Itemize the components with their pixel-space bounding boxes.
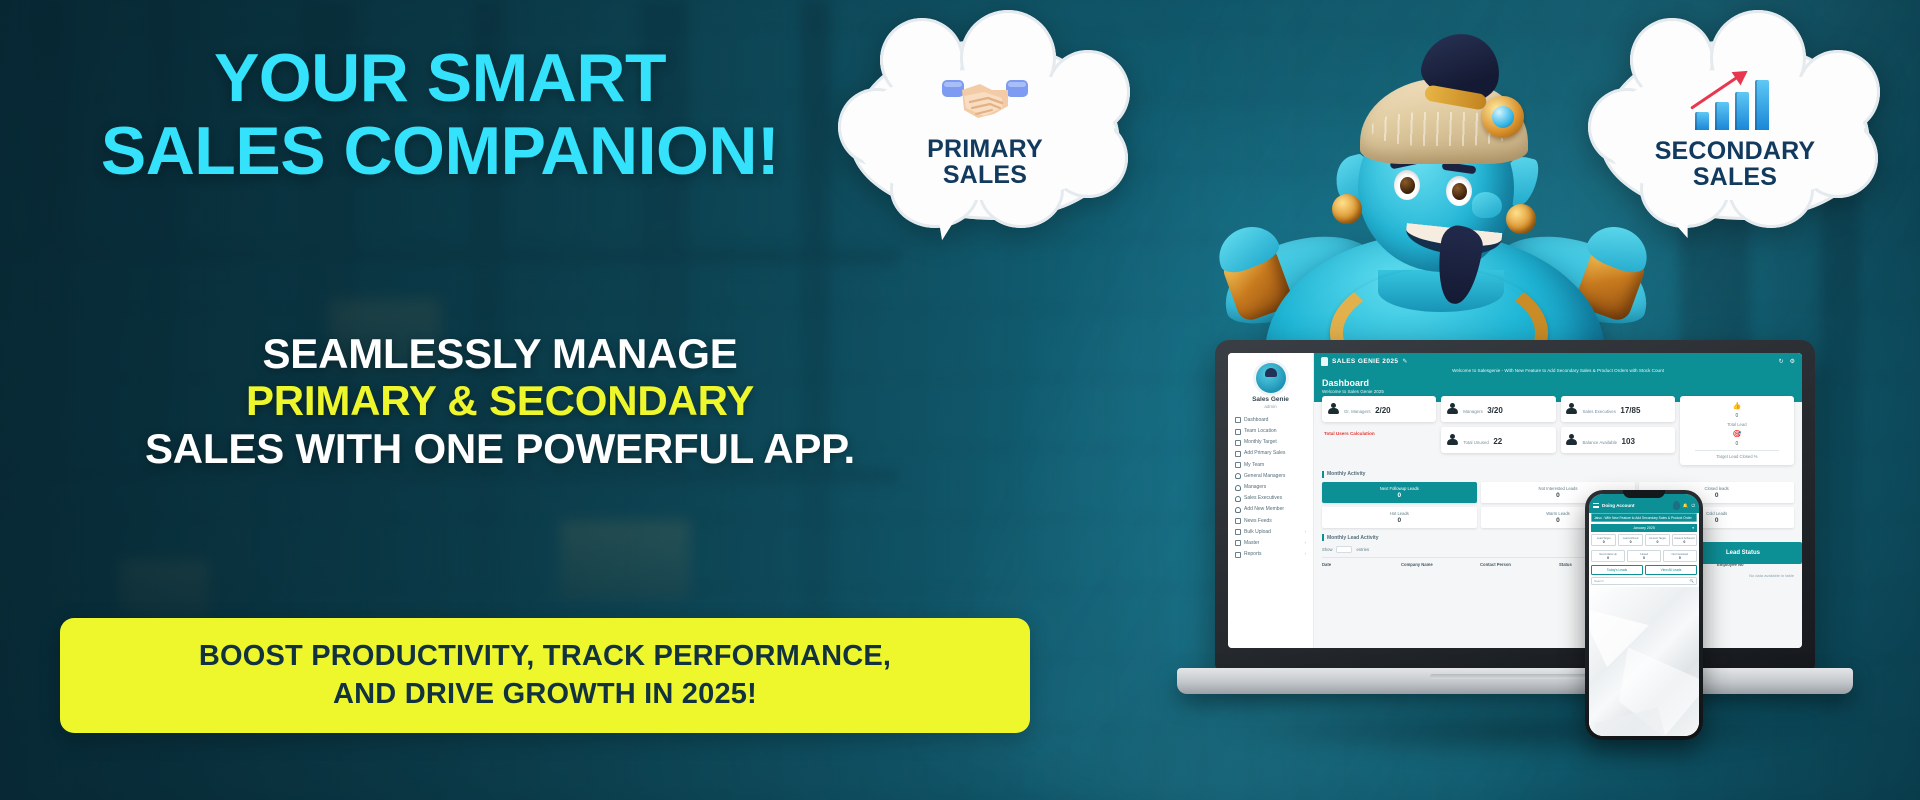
genie-avatar-icon[interactable] [1673,501,1680,510]
genie-right-eye [1446,176,1472,206]
kpi-column: Managers 3/20 Total Unused 22 [1441,396,1555,465]
phone-stat-tile: Lead Target 0 [1591,534,1616,546]
kpi-label: Sales Executives [1583,409,1616,414]
cta-banner[interactable]: BOOST PRODUCTIVITY, TRACK PERFORMANCE, A… [60,618,1030,733]
phone-stat-value: 0 [1646,540,1669,544]
phone-tiles-row-1: Lead Target 0 Lead Achived 0 Amount Targ… [1589,532,1699,548]
genie-turban-jewel [1482,96,1524,138]
phone-stat-value: 0 [1673,540,1696,544]
entries-label: entries [1356,547,1369,552]
dashboard-page-title: Dashboard [1322,378,1794,388]
phone-stat-tile: Lead Achived 0 [1618,534,1643,546]
kpi-column: Sales Executives 17/85 Balance Available [1561,396,1675,465]
section-header-monthly-activity: Monthly Activity [1322,471,1794,478]
person-icon [1446,403,1458,415]
person-icon [1327,403,1339,415]
genie-left-earring [1332,194,1362,224]
activity-value: 0 [1324,517,1475,524]
sidebar-item-label: Add New Member [1244,507,1284,512]
bar-chart-growth-icon [1689,70,1781,130]
cta-text: BOOST PRODUCTIVITY, TRACK PERFORMANCE, A… [199,638,891,712]
activity-value: 0 [1324,492,1475,499]
view-all-leads-button[interactable]: View All Leads [1645,565,1697,575]
chevron-right-icon: › [1305,552,1307,557]
subheading-line-1: SEAMLESSLY MANAGE [0,330,1000,377]
kpi-value: 22 [1493,437,1502,446]
phone-background-illustration [1589,587,1699,736]
phone-search-field[interactable]: Search 🔍 [1591,577,1697,585]
file-icon [1235,552,1241,558]
sidebar-item-label: My Team [1244,463,1264,468]
sidebar-item-monthly-target[interactable]: Monthly Target [1233,437,1308,448]
bubble-label: SECONDARY SALES [1655,138,1816,191]
hero-subheading: SEAMLESSLY MANAGE PRIMARY & SECONDARY SA… [0,330,1000,472]
power-icon[interactable]: ⏻ [1691,503,1695,508]
total-lead-card: 👍 0 Total Lead 🎯 0 Target Lead Closed % [1680,396,1794,465]
subheading-highlight: PRIMARY & SECONDARY [0,377,1000,424]
activity-label: Next Followup Leads [1324,486,1475,491]
sidebar-item-team-location[interactable]: Team Location [1233,426,1308,437]
kpi-grid: Gr. Managers 2/20 Total Users Calculatio… [1322,396,1794,465]
file-icon [1235,540,1241,546]
table-empty-message: No data available in table [1322,573,1794,578]
chevron-right-icon: › [1305,541,1307,546]
gear-icon[interactable]: ⚙ [1790,358,1795,365]
section-title: Monthly Lead Activity [1327,535,1379,541]
sidebar-item-bulk-upload[interactable]: Bulk Upload › [1233,527,1308,538]
sidebar-app-name: Sales Genie [1233,396,1308,404]
pencil-icon[interactable]: ✎ [1402,358,1407,365]
total-lead-label: Total Lead [1727,422,1746,427]
upload-icon [1235,529,1241,535]
activity-card-hot-leads[interactable]: Hot Leads 0 [1322,507,1477,528]
kpi-note: Total Users Calculation [1322,427,1436,441]
dashboard-page-subtitle: Welcome to Sales Genie 2025 [1322,389,1794,394]
bubble-label-line-1: SECONDARY [1655,138,1816,164]
device-floor-shadow [1210,700,1830,760]
hero-copy-column: YOUR SMART SALES COMPANION! SEAMLESSLY M… [0,0,1030,800]
section-header-monthly-lead-activity: Monthly Lead Activity [1322,534,1794,541]
laptop-screen: Sales Genie admin Dashboard Team Locatio… [1228,353,1802,648]
kpi-value: 3/20 [1487,406,1503,415]
target-lead-value: 0 [1735,441,1738,447]
dashboard-topbar: SALES GENIE 2025 ✎ ↻ ⚙ Welcome to Salesg… [1314,353,1802,376]
kpi-value: 2/20 [1375,406,1391,415]
hero-artwork: PRIMARY SALES [960,0,1920,800]
app-logo-icon [1321,357,1328,366]
kpi-card: Balance Available 103 [1561,427,1675,453]
laptop-mockup: Sales Genie admin Dashboard Team Locatio… [1215,340,1815,740]
phone-notch [1623,490,1665,498]
phone-stat-tile: Not Interested 0 [1663,550,1697,562]
kpi-label: Gr. Managers [1344,409,1371,414]
laptop-base [1177,668,1853,694]
sidebar-item-label: Team Location [1244,429,1277,434]
person-icon [1566,403,1578,415]
cta-line-2: AND DRIVE GROWTH IN 2025! [199,676,891,713]
phone-stat-value: 0 [1592,540,1615,544]
briefcase-icon [1235,462,1241,468]
sidebar-item-add-primary-sales[interactable]: Add Primary Sales [1233,448,1308,459]
sidebar-item-label: Reports [1244,552,1262,557]
topbar-title: SALES GENIE 2025 [1332,358,1398,365]
phone-stat-value: 0 [1592,556,1624,560]
sidebar-item-label: Managers [1244,485,1266,490]
person-icon [1446,434,1458,446]
kpi-card: Gr. Managers 2/20 [1322,396,1436,422]
kpi-value: 103 [1622,437,1635,446]
grid-icon [1235,417,1241,423]
refresh-icon[interactable]: ↻ [1779,358,1784,365]
kpi-card: Managers 3/20 [1441,396,1555,422]
dashboard-body: Gr. Managers 2/20 Total Users Calculatio… [1314,396,1802,648]
table-column-header: Date [1322,562,1399,567]
topbar-welcome-text: Welcome to Salesgenie - With New Feature… [1321,368,1795,374]
phone-stat-tile: Amount Target 0 [1645,534,1670,546]
activity-row-1: Next Followup Leads 0 Not Interested Lea… [1322,482,1794,503]
total-lead-value: 0 [1735,413,1738,419]
genie-left-eye [1394,170,1420,200]
cta-line-1: BOOST PRODUCTIVITY, TRACK PERFORMANCE, [199,638,891,675]
kpi-card: Sales Executives 17/85 [1561,396,1675,422]
section-title: Monthly Activity [1327,471,1365,477]
phone-stat-value: 0 [1619,540,1642,544]
table-column-header: Contact Person [1480,562,1557,567]
sidebar-item-label: Master [1244,541,1259,546]
thumbs-up-icon: 👍 [1733,402,1742,410]
phone-search-placeholder: Search [1594,579,1604,583]
kpi-column: Gr. Managers 2/20 Total Users Calculatio… [1322,396,1436,465]
phone-header-title: Doing Account [1602,503,1635,508]
magnifier-icon[interactable]: 🔍 [1690,579,1694,583]
phone-month-label: January 2025 [1633,526,1655,530]
sidebar-item-label: News Feeds [1244,519,1272,524]
phone-buttons: Today's Leads View All Leads [1589,564,1699,577]
person-icon [1235,485,1241,491]
table-column-header: Company Name [1401,562,1478,567]
person-icon [1235,496,1241,502]
dashboard-sidebar: Sales Genie admin Dashboard Team Locatio… [1228,353,1314,648]
kpi-label: Balance Available [1583,440,1618,445]
sidebar-item-sales-executives[interactable]: Sales Executives [1233,493,1308,504]
sidebar-item-news-feeds[interactable]: News Feeds [1233,515,1308,526]
kpi-card: Total Unused 22 [1441,427,1555,453]
phone-header-icons: 🔔 ⏻ [1673,501,1695,510]
activity-label: Hot Leads [1324,511,1475,516]
sidebar-item-managers[interactable]: Managers [1233,482,1308,493]
sidebar-item-label: Bulk Upload [1244,530,1271,535]
kpi-value: 17/85 [1620,406,1640,415]
headline-line-1: YOUR SMART [0,42,880,115]
activity-card-next-followup[interactable]: Next Followup Leads 0 [1322,482,1477,503]
sidebar-item-general-managers[interactable]: General Managers [1233,471,1308,482]
hamburger-icon[interactable] [1593,503,1599,508]
sidebar-item-label: General Managers [1244,474,1285,479]
entries-select[interactable] [1336,546,1352,553]
headline-line-2: SALES COMPANION! [0,115,880,188]
file-icon [1235,518,1241,524]
sidebar-item-label: Dashboard [1244,418,1268,423]
divider [1695,450,1778,451]
sidebar-item-dashboard[interactable]: Dashboard [1233,415,1308,426]
kpi-label: Managers [1463,409,1483,414]
activity-row-2: Hot Leads 0 Warm Leads 0 Cold Leads 0 [1322,507,1794,528]
briefcase-icon [1235,451,1241,457]
chevron-right-icon: › [1305,530,1307,535]
laptop-lid: Sales Genie admin Dashboard Team Locatio… [1215,340,1815,670]
promo-banner: YOUR SMART SALES COMPANION! SEAMLESSLY M… [0,0,1920,800]
phone-stat-value: 0 [1628,556,1660,560]
phone-mockup: Doing Account 🔔 ⏻ Jaiso : With New Featu… [1585,490,1703,740]
phone-screen: Doing Account 🔔 ⏻ Jaiso : With New Featu… [1589,494,1699,736]
person-icon [1566,434,1578,446]
genie-right-earring [1506,204,1536,234]
sidebar-user-role: admin [1233,404,1308,409]
show-label: Show [1322,547,1332,552]
person-add-icon [1235,507,1241,513]
phone-stat-tile: Closed 0 [1627,550,1661,562]
phone-stat-tile: Amount Achieved 0 [1672,534,1697,546]
phone-ticker: Jaiso : With New Feature to Add Secondar… [1591,513,1697,522]
section-accent-bar [1322,534,1324,541]
sidebar-item-add-new-member[interactable]: Add New Member [1233,504,1308,515]
sidebar-item-master[interactable]: Master › [1233,538,1308,549]
phone-tiles-row-2: Next Follow Up 0 Closed 0 Not Interested… [1589,548,1699,564]
chevron-down-icon: ▾ [1692,526,1694,530]
dashboard-main: SALES GENIE 2025 ✎ ↻ ⚙ Welcome to Salesg… [1314,353,1802,648]
sidebar-item-my-team[interactable]: My Team [1233,460,1308,471]
genie-nose [1472,192,1502,218]
target-icon: 🎯 [1733,430,1742,438]
section-accent-bar [1322,471,1324,478]
person-icon [1235,473,1241,479]
pin-icon [1235,429,1241,435]
kpi-label: Total Unused [1463,440,1489,445]
phone-stat-tile: Next Follow Up 0 [1591,550,1625,562]
sidebar-item-reports[interactable]: Reports › [1233,549,1308,560]
briefcase-icon [1235,440,1241,446]
sidebar-item-label: Sales Executives [1244,496,1282,501]
todays-leads-button[interactable]: Today's Leads [1591,565,1643,575]
page-title: YOUR SMART SALES COMPANION! [0,42,880,189]
subheading-line-3: SALES WITH ONE POWERFUL APP. [0,425,1000,472]
sidebar-item-label: Monthly Target [1244,440,1277,445]
phone-month-selector[interactable]: January 2025 ▾ [1591,524,1697,532]
phone-stat-value: 0 [1664,556,1696,560]
avatar [1256,363,1286,393]
bell-icon[interactable]: 🔔 [1683,503,1689,509]
sidebar-item-label: Add Primary Sales [1244,451,1285,456]
bubble-label-line-2: SALES [1655,164,1816,190]
target-lead-label: Target Lead Closed % [1716,454,1757,459]
topbar-icons: ↻ ⚙ [1779,358,1795,365]
